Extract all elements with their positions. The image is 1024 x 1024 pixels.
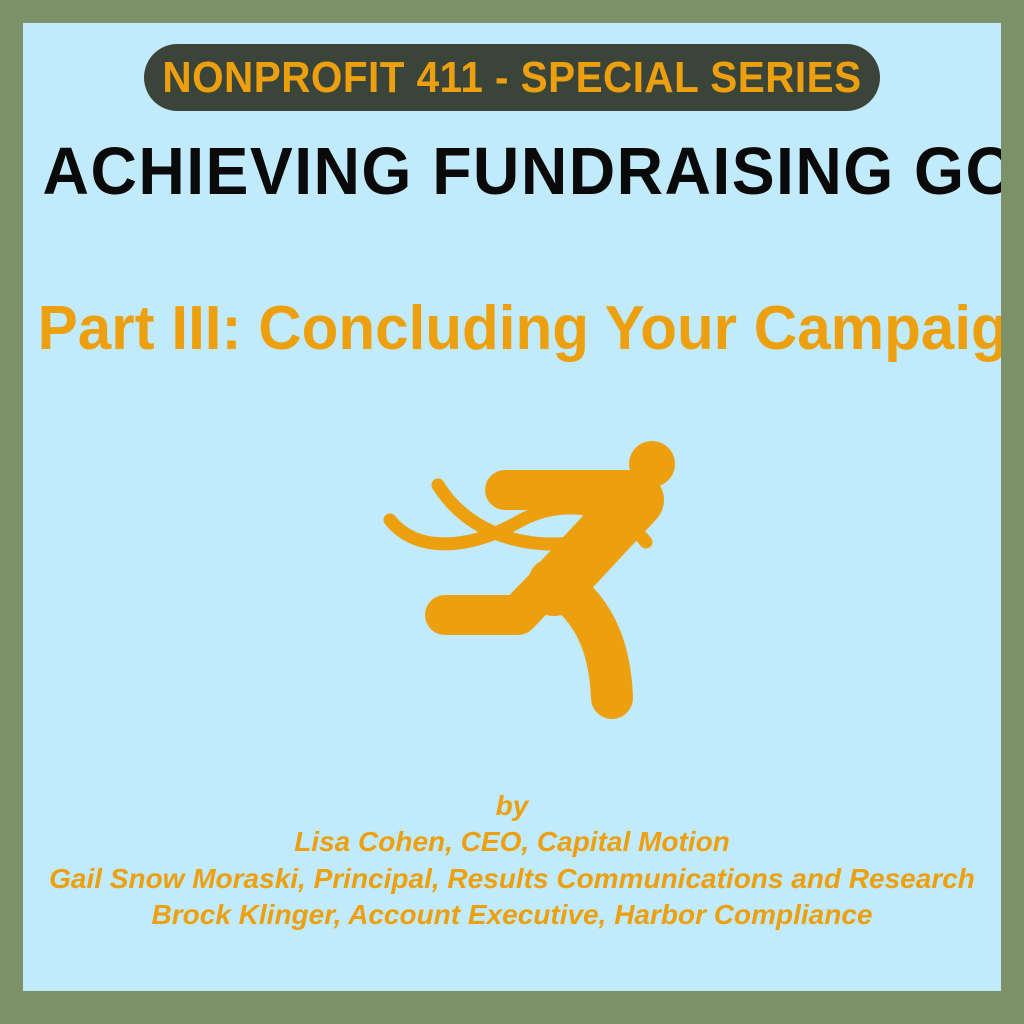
runner-icon-graphic	[378, 430, 678, 720]
byline-block: by Lisa Cohen, CEO, Capital Motion Gail …	[23, 788, 1001, 934]
runner-head	[629, 441, 675, 487]
byline-author-1: Lisa Cohen, CEO, Capital Motion	[23, 824, 1001, 860]
byline-author-3: Brock Klinger, Account Executive, Harbor…	[23, 897, 1001, 933]
runner-crossing-finish-line-icon	[378, 430, 678, 720]
page-title: ACHIEVING FUNDRAISING GOLD	[43, 137, 982, 207]
series-badge: NONPROFIT 411 - SPECIAL SERIES	[144, 44, 880, 111]
page-subtitle: Part III: Concluding Your Campaign	[38, 295, 987, 363]
byline-by-label: by	[23, 788, 1001, 824]
presentation-slide: NONPROFIT 411 - SPECIAL SERIES ACHIEVING…	[0, 0, 1024, 1024]
slide-canvas: NONPROFIT 411 - SPECIAL SERIES ACHIEVING…	[23, 23, 1001, 991]
series-badge-label: NONPROFIT 411 - SPECIAL SERIES	[162, 56, 861, 100]
byline-author-2: Gail Snow Moraski, Principal, Results Co…	[23, 861, 1001, 897]
